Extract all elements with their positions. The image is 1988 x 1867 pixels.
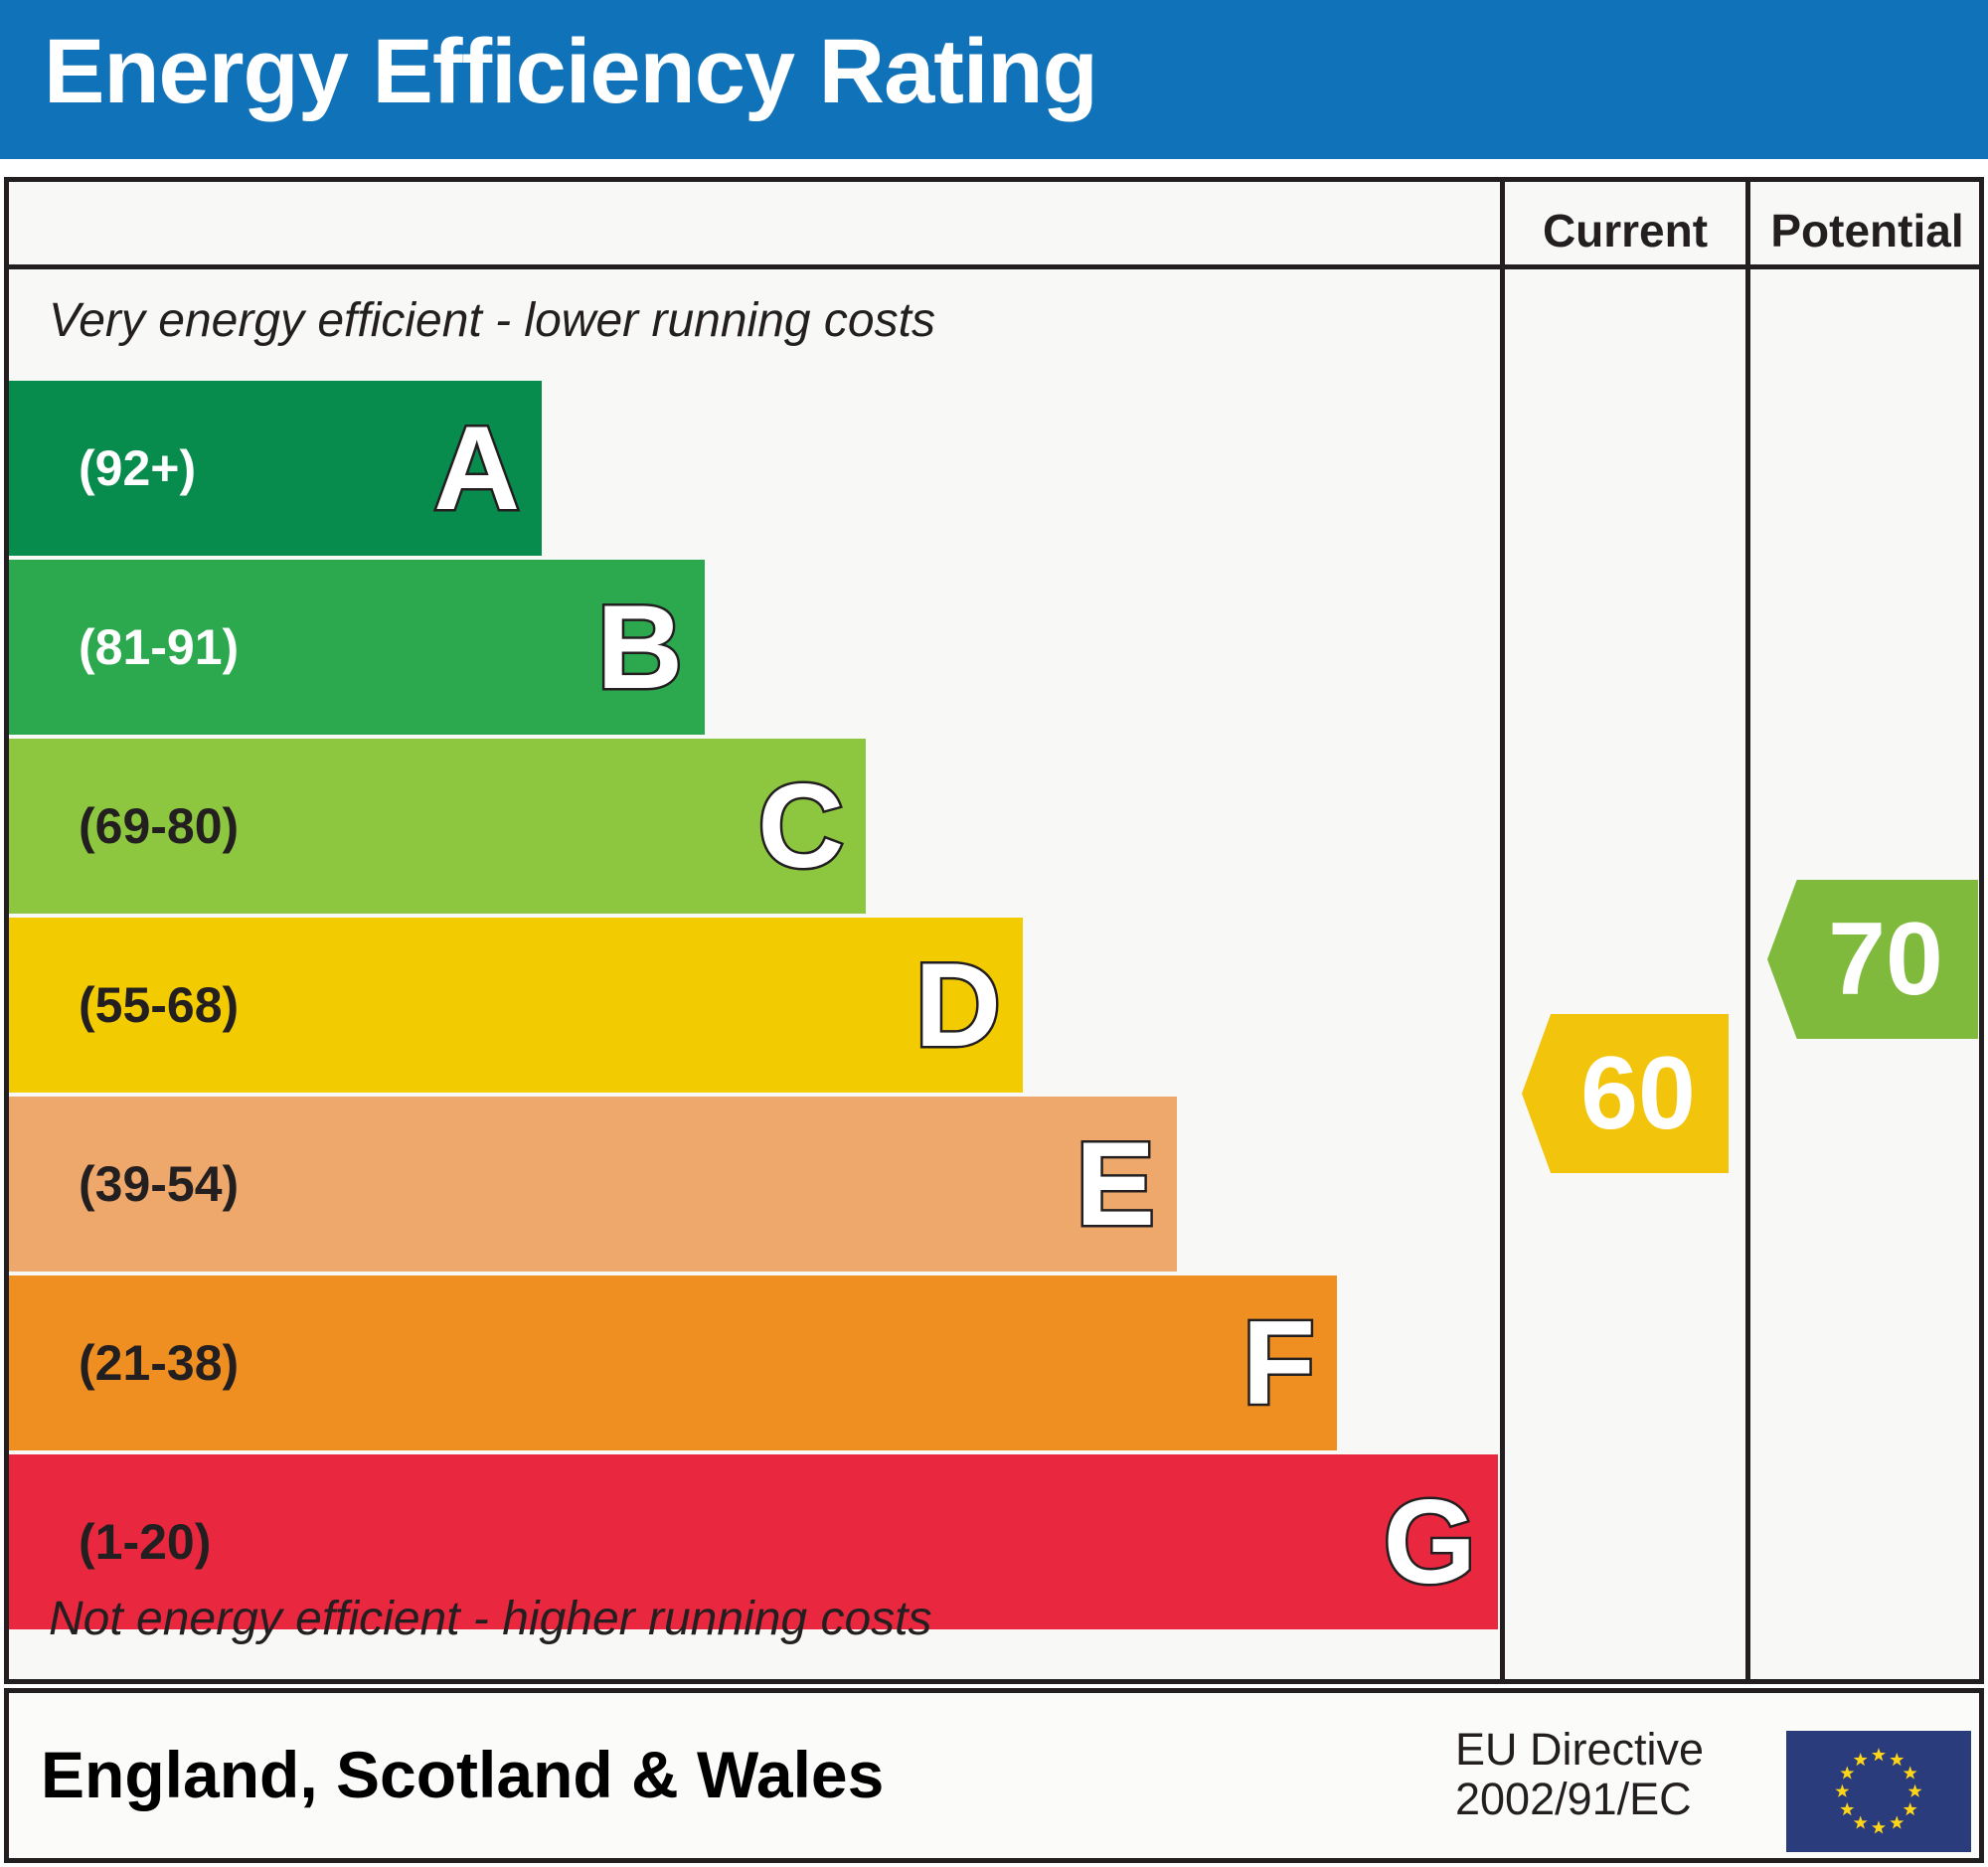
potential-rating-value: 70 [1802,908,1943,1011]
band-f-letter: F [1242,1303,1315,1423]
footer-bar: England, Scotland & Wales EU Directive 2… [4,1688,1984,1863]
current-rating-value: 60 [1555,1042,1696,1145]
column-divider-current [1500,182,1505,1679]
eu-flag-icon [1786,1731,1971,1852]
caption-not-efficient: Not energy efficient - higher running co… [49,1592,931,1646]
band-e-range: (39-54) [79,1155,239,1213]
band-e: (39-54) E [9,1097,1177,1272]
energy-efficiency-rating-certificate: Energy Efficiency Rating Current Potenti… [0,0,1988,1867]
footer-directive-label: EU Directive 2002/91/EC [1455,1725,1773,1825]
band-g-range: (1-20) [79,1513,211,1571]
table-header-row: Current Potential [9,182,1979,269]
band-d: (55-68) D [9,918,1023,1093]
title-bar: Energy Efficiency Rating [0,0,1988,159]
band-f-range: (21-38) [79,1334,239,1392]
potential-rating-arrow: 70 [1767,880,1978,1039]
footer-region-label: England, Scotland & Wales [41,1737,884,1812]
band-f: (21-38) F [9,1275,1337,1450]
band-a: (92+) A [9,381,542,556]
band-g-letter: G [1384,1482,1476,1602]
caption-efficient: Very energy efficient - lower running co… [49,293,935,348]
page-title: Energy Efficiency Rating [44,20,1097,124]
current-rating-arrow: 60 [1522,1014,1729,1173]
band-a-letter: A [433,409,520,528]
band-e-letter: E [1076,1124,1155,1244]
column-header-current: Current [1505,204,1745,257]
band-b-range: (81-91) [79,618,239,676]
band-chart: Very energy efficient - lower running co… [9,269,1500,1679]
footer-directive-line1: EU Directive [1455,1725,1773,1775]
column-header-potential: Potential [1750,204,1984,257]
band-b-letter: B [596,588,683,707]
band-d-range: (55-68) [79,976,239,1034]
band-b: (81-91) B [9,560,705,735]
band-a-range: (92+) [79,439,196,497]
band-c-range: (69-80) [79,797,239,855]
footer-directive-line2: 2002/91/EC [1455,1775,1773,1824]
band-c: (69-80) C [9,739,866,914]
band-d-letter: D [914,945,1001,1065]
rating-table: Current Potential Very energy efficient … [4,177,1984,1684]
column-divider-potential [1745,182,1750,1679]
band-c-letter: C [757,766,844,886]
